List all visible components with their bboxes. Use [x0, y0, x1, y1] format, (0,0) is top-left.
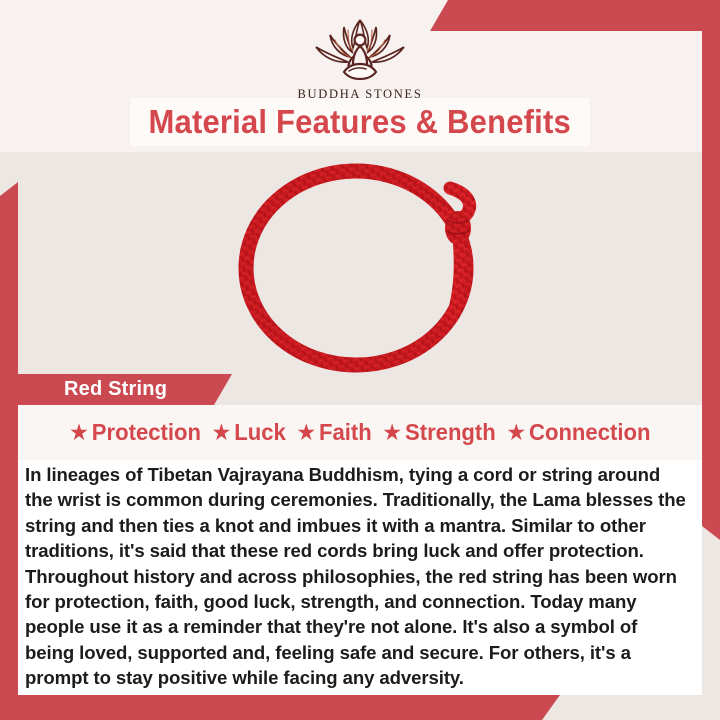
benefit-item-faith: ★ Faith: [293, 419, 376, 446]
product-name-label: Red String: [64, 378, 167, 401]
benefit-label: Connection: [529, 419, 650, 446]
decor-band-bottom: [0, 695, 560, 720]
page-title: Material Features & Benefits: [149, 103, 571, 141]
benefit-item-connection: ★ Connection: [503, 419, 655, 446]
lotus-meditation-icon: [302, 14, 418, 86]
star-icon: ★: [297, 421, 317, 444]
star-icon: ★: [212, 421, 232, 444]
benefits-strip: ★ Protection ★ Luck ★ Faith ★ Strength ★…: [0, 405, 720, 460]
decor-band-left: [0, 182, 18, 696]
description-text: In lineages of Tibetan Vajrayana Buddhis…: [25, 462, 688, 691]
decor-band-right: [702, 0, 720, 540]
star-icon: ★: [69, 421, 89, 444]
benefit-label: Strength: [405, 419, 496, 446]
benefit-label: Faith: [319, 419, 372, 446]
benefit-label: Protection: [92, 419, 201, 446]
benefit-item-protection: ★ Protection: [65, 419, 205, 446]
infographic-poster: BUDDHA STONES Material Features & Benefi…: [0, 0, 720, 720]
product-name-badge: Red String: [0, 374, 232, 405]
red-string-bracelet-image: [228, 160, 500, 375]
benefits-list: ★ Protection ★ Luck ★ Faith ★ Strength ★…: [65, 419, 654, 446]
benefit-item-luck: ★ Luck: [208, 419, 290, 446]
star-icon: ★: [383, 421, 403, 444]
benefit-label: Luck: [234, 419, 286, 446]
star-icon: ★: [507, 421, 527, 444]
brand-logo: BUDDHA STONES: [280, 14, 440, 102]
decor-band-top-right: [430, 0, 720, 31]
page-title-box: Material Features & Benefits: [130, 98, 590, 146]
description-panel: In lineages of Tibetan Vajrayana Buddhis…: [18, 460, 702, 695]
benefit-item-strength: ★ Strength: [379, 419, 500, 446]
